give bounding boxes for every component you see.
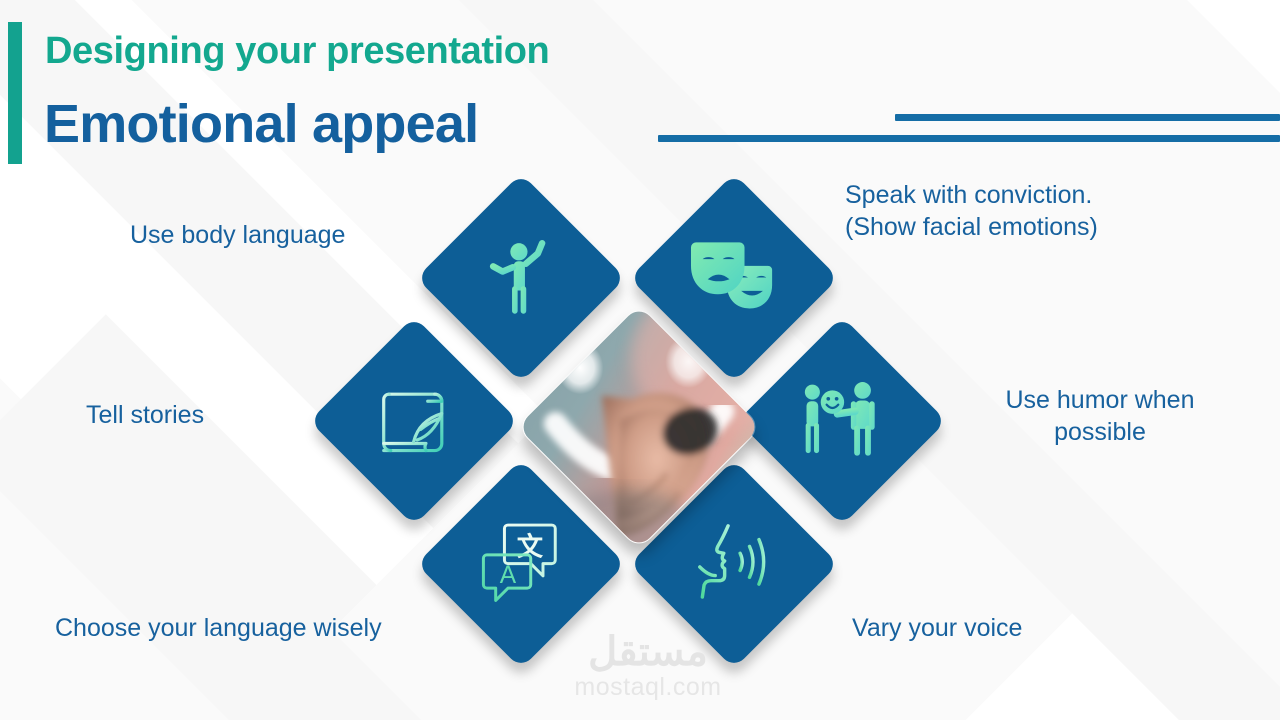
theater-masks-icon [688, 232, 780, 325]
person-gesturing-icon [478, 233, 564, 324]
label-body-language: Use body language [130, 220, 345, 252]
watermark-arabic: مستقل [548, 632, 748, 672]
label-conviction: Speak with conviction. (Show facial emot… [845, 180, 1098, 243]
label-language: Choose your language wisely [55, 613, 382, 645]
speaking-head-waves-icon [689, 519, 779, 610]
header-rule-bottom [658, 135, 1280, 142]
title-accent-bar [8, 22, 22, 164]
header-rule-top [895, 114, 1280, 121]
watermark: مستقل mostaql.com [548, 632, 748, 702]
page-title: Emotional appeal [44, 96, 478, 153]
svg-text:A: A [500, 562, 517, 589]
label-humor: Use humor when possible [975, 385, 1225, 448]
label-stories: Tell stories [86, 400, 204, 432]
watermark-latin: mostaql.com [548, 674, 748, 702]
two-people-smiley-mask-icon [796, 376, 888, 467]
label-voice: Vary your voice [852, 613, 1022, 645]
slide-eyebrow: Designing your presentation [45, 32, 549, 72]
scroll-quill-icon [370, 375, 458, 468]
translate-speech-bubbles-icon: 文 A [475, 518, 567, 611]
